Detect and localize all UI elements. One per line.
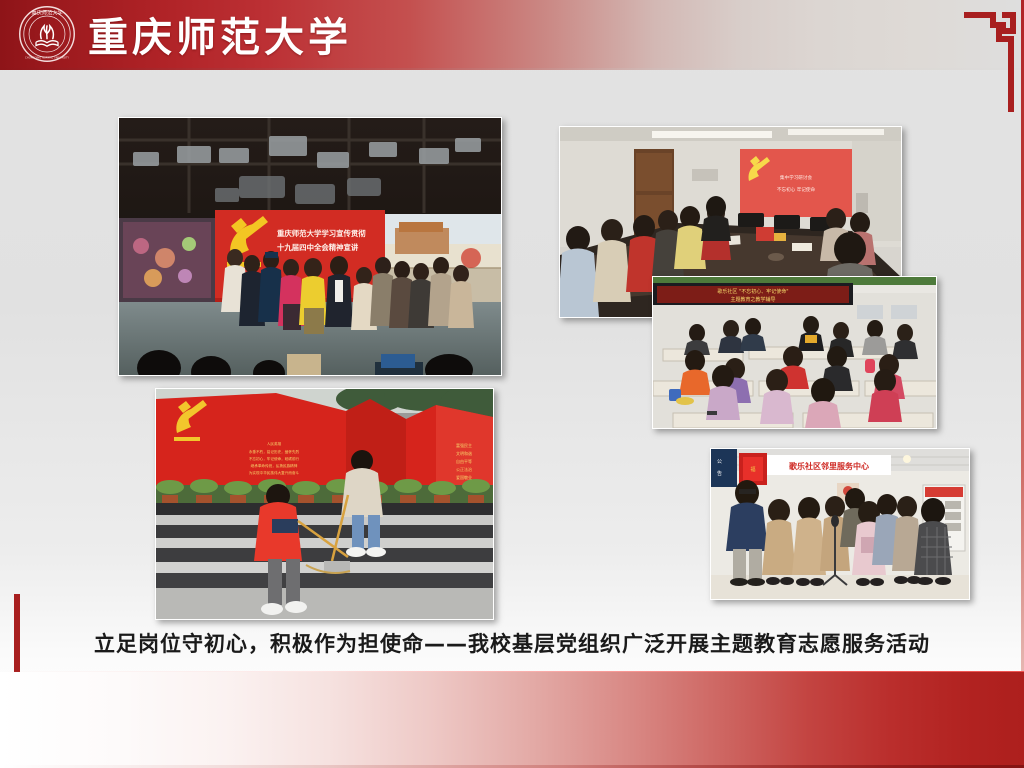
svg-text:爱国敬业: 爱国敬业 bbox=[456, 474, 472, 480]
university-seal-emblem: 重庆师范大学 CHONGQING NORMAL UNIVERSITY bbox=[18, 5, 76, 63]
photo-volunteer-group[interactable]: 公告 福 歌乐社区邻里服务中心 bbox=[710, 448, 970, 600]
svg-text:CHONGQING NORMAL UNIVERSITY: CHONGQING NORMAL UNIVERSITY bbox=[25, 55, 69, 59]
svg-text:公: 公 bbox=[717, 459, 722, 465]
svg-text:歌乐社区 "不忘初心、牢记使命": 歌乐社区 "不忘初心、牢记使命" bbox=[717, 288, 788, 295]
svg-text:人民英雄: 人民英雄 bbox=[267, 441, 282, 446]
footer-gradient-band bbox=[0, 672, 1024, 768]
slide-header-band: 重庆师范大学 CHONGQING NORMAL UNIVERSITY 重庆师范大… bbox=[0, 0, 1024, 70]
svg-text:主题教育之教学辅导: 主题教育之教学辅导 bbox=[730, 296, 775, 303]
photo-tv-studio-lecture[interactable]: 重庆师范大学学习宣传贯彻 十九届四中全会精神宣讲 bbox=[118, 117, 502, 376]
svg-text:重庆师范大学学习宣传贯彻: 重庆师范大学学习宣传贯彻 bbox=[277, 229, 366, 238]
svg-text:永垂不朽，铭记历史，缅怀先烈: 永垂不朽，铭记历史，缅怀先烈 bbox=[249, 449, 300, 454]
page-title: 重庆师范大学 bbox=[88, 2, 352, 66]
svg-text:十九届四中全会精神宣讲: 十九届四中全会精神宣讲 bbox=[277, 243, 359, 252]
svg-text:为实现中华民族伟大复兴而奋斗: 为实现中华民族伟大复兴而奋斗 bbox=[249, 470, 300, 475]
svg-text:不忘初心，牢记使命，砥砺前行: 不忘初心，牢记使命，砥砺前行 bbox=[249, 456, 300, 461]
slide-caption: 立足岗位守初心，积极作为担使命——我校基层党组织广泛开展主题教育志愿服务活动 bbox=[0, 628, 1024, 658]
corner-ornament-top-right-icon bbox=[964, 8, 1016, 116]
svg-text:富强民主: 富强民主 bbox=[456, 442, 472, 448]
svg-text:歌乐社区邻里服务中心: 歌乐社区邻里服务中心 bbox=[789, 461, 869, 471]
photo-sweeping-monument[interactable]: 人民英雄 永垂不朽，铭记历史，缅怀先烈 不忘初心，牢记使命，砥砺前行 继承革命传… bbox=[155, 388, 494, 620]
svg-text:不忘初心 牢记使命: 不忘初心 牢记使命 bbox=[777, 186, 816, 193]
svg-text:告: 告 bbox=[717, 470, 722, 477]
svg-text:继承革命传统，弘扬民族精神: 继承革命传统，弘扬民族精神 bbox=[251, 463, 298, 468]
photo-classroom-children[interactable]: 歌乐社区 "不忘初心、牢记使命" 主题教育之教学辅导 bbox=[652, 276, 937, 429]
svg-text:福: 福 bbox=[750, 466, 755, 473]
svg-text:集中学习研讨会: 集中学习研讨会 bbox=[780, 174, 813, 181]
svg-text:文明和谐: 文明和谐 bbox=[456, 450, 472, 456]
presentation-slide: 重庆师范大学 CHONGQING NORMAL UNIVERSITY 重庆师范大… bbox=[0, 0, 1024, 768]
svg-text:自由平等: 自由平等 bbox=[456, 458, 472, 464]
svg-text:公正法治: 公正法治 bbox=[456, 466, 472, 472]
